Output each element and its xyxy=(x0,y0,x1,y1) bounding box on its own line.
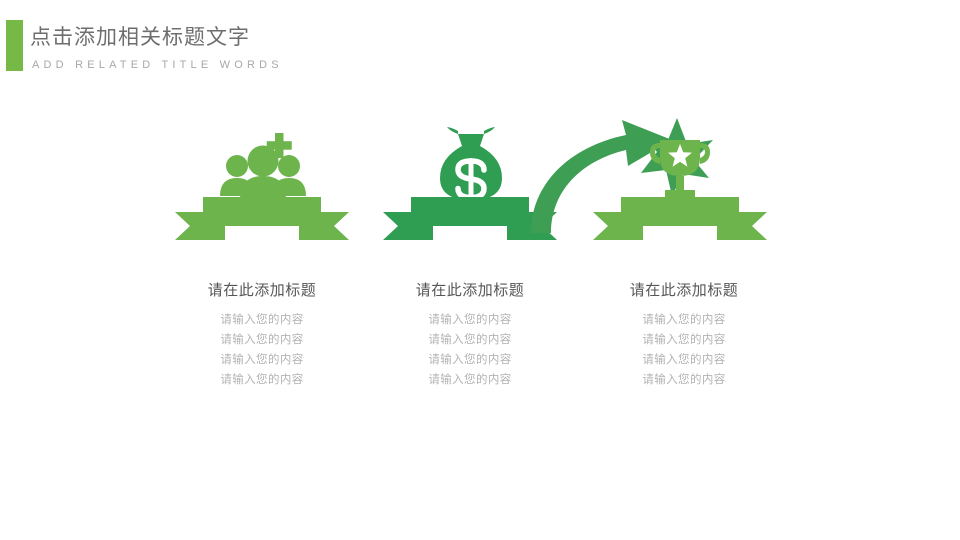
star-burst-icon xyxy=(641,118,713,196)
page-title: 点击添加相关标题文字 xyxy=(30,24,250,52)
column-line: 请输入您的内容 xyxy=(158,330,366,350)
column-group-1: 请在此添加标题 请输入您的内容 请输入您的内容 请输入您的内容 请输入您的内容 xyxy=(158,280,366,390)
curved-growth-arrow xyxy=(531,120,672,233)
slide-header: 点击添加相关标题文字 ADD RELATED TITLE WORDS xyxy=(0,0,960,95)
column-line: 请输入您的内容 xyxy=(158,370,366,390)
column-group-2: 请在此添加标题 请输入您的内容 请输入您的内容 请输入您的内容 请输入您的内容 xyxy=(366,280,574,390)
ribbon-banner-3 xyxy=(593,197,767,240)
column-line: 请输入您的内容 xyxy=(580,310,788,330)
column-line: 请输入您的内容 xyxy=(366,370,574,390)
column-line: 请输入您的内容 xyxy=(580,370,788,390)
column-heading-1: 请在此添加标题 xyxy=(158,280,366,302)
column-line: 请输入您的内容 xyxy=(580,330,788,350)
column-group-3: 请在此添加标题 请输入您的内容 请输入您的内容 请输入您的内容 请输入您的内容 xyxy=(580,280,788,390)
money-bag-icon xyxy=(440,127,502,202)
column-line: 请输入您的内容 xyxy=(366,330,574,350)
column-line: 请输入您的内容 xyxy=(580,350,788,370)
column-heading-3: 请在此添加标题 xyxy=(580,280,788,302)
column-line: 请输入您的内容 xyxy=(366,310,574,330)
people-plus-icon xyxy=(220,133,306,199)
column-line: 请输入您的内容 xyxy=(158,310,366,330)
ribbon-banner-2 xyxy=(383,197,557,240)
column-heading-2: 请在此添加标题 xyxy=(366,280,574,302)
text-columns: 请在此添加标题 请输入您的内容 请输入您的内容 请输入您的内容 请输入您的内容 … xyxy=(0,280,960,390)
header-accent-bar xyxy=(6,20,23,71)
column-line: 请输入您的内容 xyxy=(366,350,574,370)
column-line: 请输入您的内容 xyxy=(158,350,366,370)
trophy-star-icon xyxy=(650,140,710,198)
page-subtitle: ADD RELATED TITLE WORDS xyxy=(32,58,283,72)
ribbon-banner-1 xyxy=(175,197,349,240)
